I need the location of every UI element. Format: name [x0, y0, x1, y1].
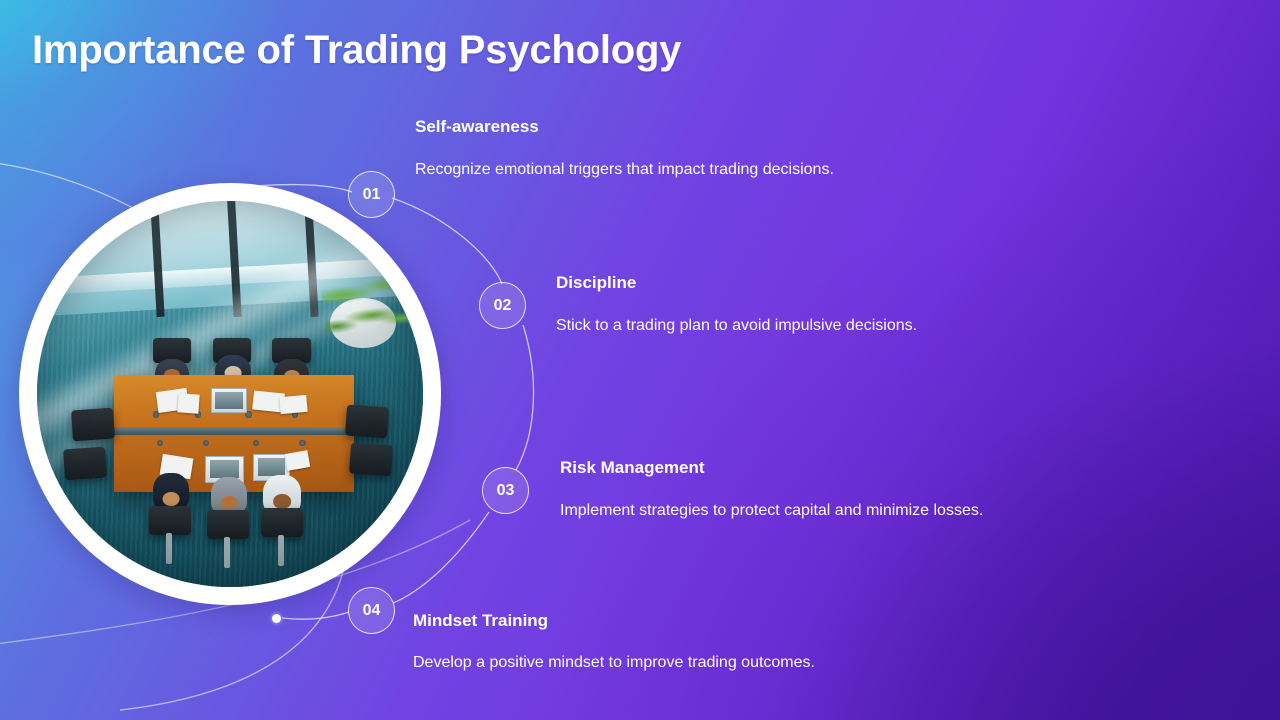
item-01-heading: Self-awareness — [415, 117, 539, 137]
step-badge-03[interactable]: 03 — [482, 467, 529, 514]
step-badge-03-number: 03 — [497, 482, 515, 500]
connector-02-to-03 — [516, 325, 533, 470]
item-03-description: Implement strategies to protect capital … — [560, 502, 983, 520]
item-02-heading: Discipline — [556, 273, 636, 293]
item-03-heading: Risk Management — [560, 458, 705, 478]
step-badge-04[interactable]: 04 — [348, 587, 395, 634]
slide-canvas: Importance of Trading Psychology — [0, 0, 1280, 720]
step-badge-01[interactable]: 01 — [348, 171, 395, 218]
page-title: Importance of Trading Psychology — [32, 28, 681, 73]
connector-end-dot — [272, 614, 281, 623]
item-01-description: Recognize emotional triggers that impact… — [415, 161, 834, 179]
item-02-description: Stick to a trading plan to avoid impulsi… — [556, 317, 917, 335]
item-04-heading: Mindset Training — [413, 611, 548, 631]
photo-vignette — [37, 201, 423, 587]
step-badge-04-number: 04 — [363, 602, 381, 620]
step-badge-02[interactable]: 02 — [479, 282, 526, 329]
item-04-description: Develop a positive mindset to improve tr… — [413, 654, 815, 672]
step-badge-01-number: 01 — [363, 186, 381, 204]
step-badge-02-number: 02 — [494, 297, 512, 315]
boardroom-photo — [37, 201, 423, 587]
photo-circle-frame — [19, 183, 441, 605]
connector-04-to-dot — [282, 612, 349, 619]
